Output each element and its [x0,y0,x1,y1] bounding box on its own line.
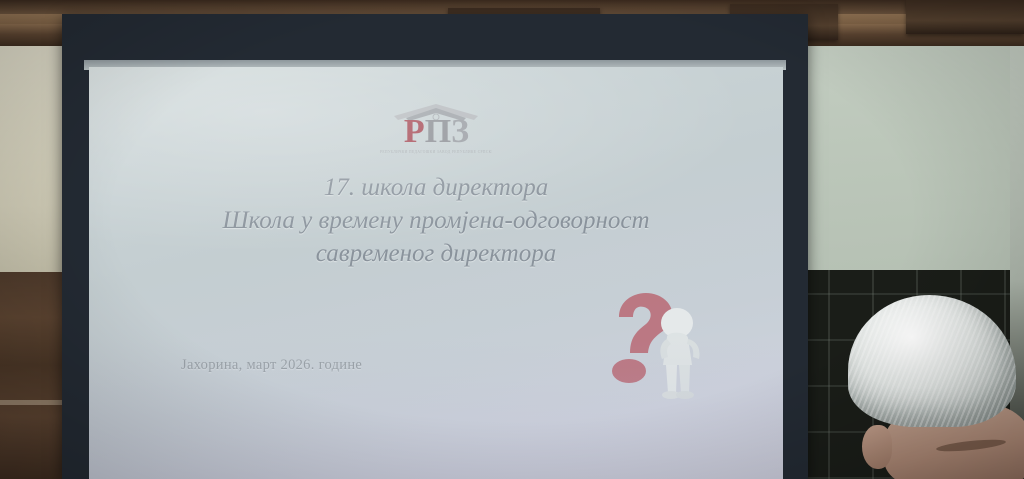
presentation-slide: Р П З РЕПУБЛИЧКИ ПЕДАГОШКИ ЗАВОД РЕПУБЛИ… [89,67,783,479]
left-wood-paneling [0,272,70,479]
foreground-person [840,285,1024,479]
right-wall [784,36,1024,281]
projection-screen-frame: Р П З РЕПУБЛИЧКИ ПЕДАГОШКИ ЗАВОД РЕПУБЛИ… [62,14,808,479]
title-line-1: 17. школа директора [89,171,783,204]
title-line-2: Школа у времену промјена-одговорност [89,204,783,237]
logo-letters: Р П З [374,116,498,148]
logo-subtitle: РЕПУБЛИЧКИ ПЕДАГОШКИ ЗАВОД РЕПУБЛИКЕ СРП… [380,150,492,156]
logo-letter-z: З [451,116,468,148]
presentation-photo-scene: Р П З РЕПУБЛИЧКИ ПЕДАГОШКИ ЗАВОД РЕПУБЛИ… [0,0,1024,479]
person-ear [862,425,892,469]
slide-title: 17. школа директора Школа у времену пром… [89,171,783,270]
logo-letter-r: Р [404,116,424,148]
logo-letter-p: П [425,116,450,148]
rpz-logo: Р П З РЕПУБЛИЧКИ ПЕДАГОШКИ ЗАВОД РЕПУБЛИ… [374,103,498,157]
title-line-3: савременог директора [89,237,783,270]
slide-date-line: Јахорина, март 2026. године [181,357,362,374]
question-mark-figure-icon [589,283,729,401]
ceiling-beam-support-4 [906,0,1024,34]
person-hair [848,295,1016,427]
left-wall [0,40,70,275]
